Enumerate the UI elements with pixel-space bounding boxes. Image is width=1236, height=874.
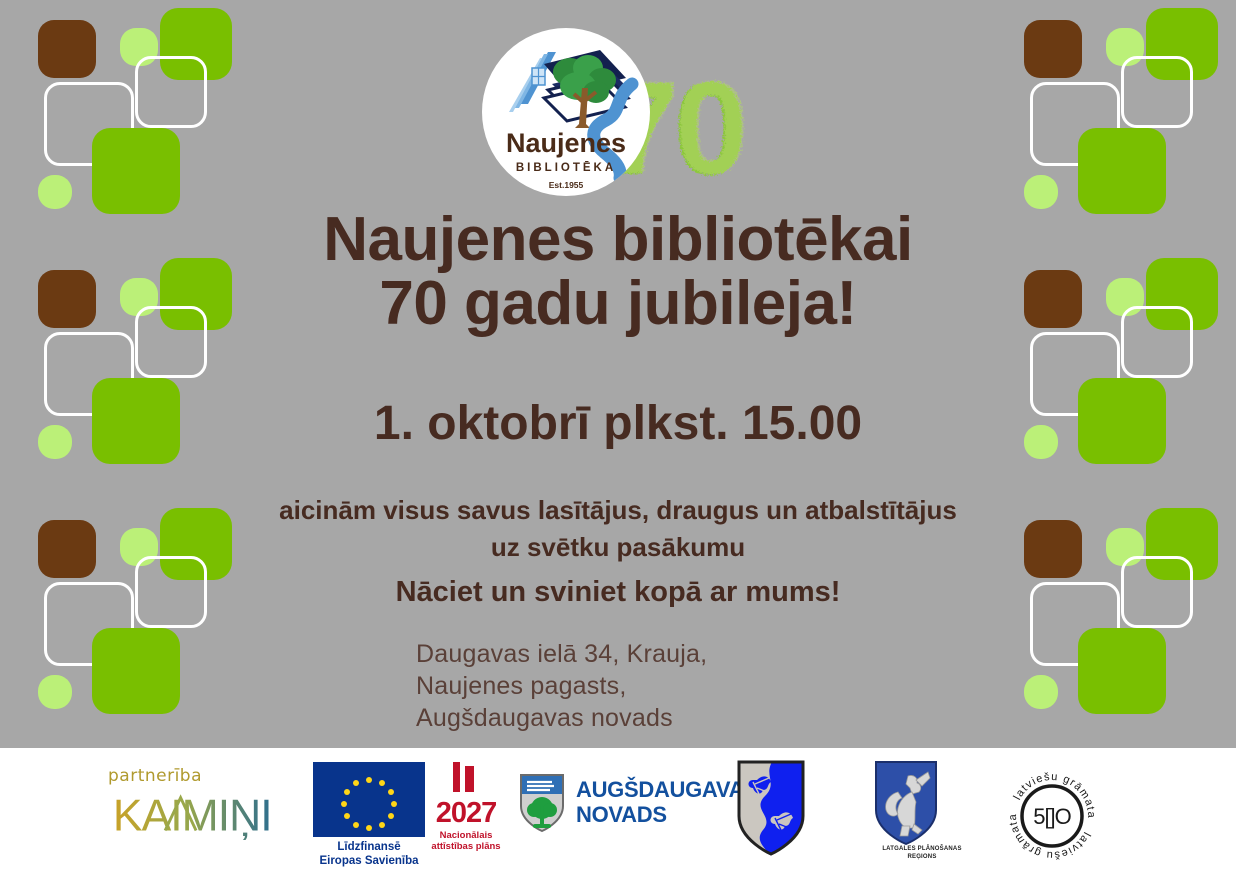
decoration-right (986, 0, 1236, 748)
gramatai-500-stamp-icon: latviešu grāmatai latviešu grāmatai 5[]O (1002, 764, 1102, 860)
deco-square-green-medium (1078, 128, 1166, 214)
latgale-line-1: LATGALES PLĀNOŠANAS (872, 846, 972, 854)
latgale-line-2: REĢIONS (872, 854, 972, 862)
poster-canvas: 70 70 (0, 0, 1236, 874)
logo-established-text: Est.1955 (549, 180, 584, 190)
stamp-center-text: 5[]O (1033, 804, 1071, 829)
call-to-action: Nāciet un sviniet kopā ar mums! (0, 576, 1236, 609)
eu-funding-caption: Līdzfinansē Eiropas Savienība (305, 840, 433, 869)
headline-line-2: 70 gadu jubileja! (0, 272, 1236, 336)
np-caption: Nacionālais attīstības plāns (431, 830, 501, 853)
deco-square-green-medium (1078, 628, 1166, 714)
invitation-line-2: uz svētku pasākumu (0, 529, 1236, 566)
invitation-text: aicinām visus savus lasītājus, draugus u… (0, 492, 1236, 566)
deco-square-light-green (38, 675, 72, 709)
deco-square-light-green (1024, 675, 1058, 709)
address-line-2: Naujenes pagasts, (416, 670, 707, 702)
address-line-3: Augšdaugavas novads (416, 702, 707, 734)
eu-flag-icon (313, 762, 425, 837)
np-caption-line-1: Nacionālais (431, 830, 501, 841)
sponsor-footer: partnerība KAIMIŅI (0, 748, 1236, 874)
logo-latviesu-gramatai-500: latviešu grāmatai latviešu grāmatai 5[]O (1002, 764, 1102, 860)
augsdaugavas-line-1: AUGŠDAUGAVAS (576, 778, 759, 803)
deco-square-outline (135, 56, 207, 128)
logo-naujenes-pagasts (735, 758, 840, 863)
logo-augsdaugavas-novads: AUGŠDAUGAVAS NOVADS (518, 772, 728, 838)
np-year: 2027 (431, 799, 501, 828)
deco-square-light-green (1024, 175, 1058, 209)
headline-line-1: Naujenes bibliotēkai (0, 208, 1236, 272)
deco-square-green-medium (92, 628, 180, 714)
event-datetime: 1. oktobrī plkst. 15.00 (0, 396, 1236, 451)
naujenes-coat-of-arms-icon (735, 758, 807, 858)
latgale-griffin-coat-of-arms-icon (872, 758, 940, 848)
address-line-1: Daugavas ielā 34, Krauja, (416, 638, 707, 670)
venue-address: Daugavas ielā 34, Krauja, Naujenes pagas… (416, 638, 707, 734)
deco-square-green-large (1146, 8, 1218, 80)
deco-square-outline (1030, 82, 1120, 166)
logo-latgales-planosanas-regions: LATGALES PLĀNOŠANAS REĢIONS (872, 758, 972, 866)
library-logo: 70 70 (482, 28, 772, 196)
np-caption-line-2: attīstības plāns (431, 841, 501, 852)
logo-sub-text: BIBLIOTĒKA (516, 162, 616, 174)
eu-caption-line-1: Līdzfinansē (305, 840, 433, 854)
deco-square-brown (38, 20, 96, 78)
kaimini-wordmark-icon: KAIMIŅI (108, 786, 288, 844)
np-bars-icon (431, 760, 501, 794)
page-title: Naujenes bibliotēkai 70 gadu jubileja! (0, 208, 1236, 337)
invitation-line-1: aicinām visus savus lasītājus, draugus u… (0, 492, 1236, 529)
deco-square-green-medium (92, 128, 180, 214)
deco-square-outline (44, 82, 134, 166)
augsdaugavas-coat-of-arms-icon (518, 772, 566, 834)
deco-square-outline (1121, 56, 1193, 128)
kaimini-main-text: KAIMIŅI (113, 791, 272, 840)
deco-square-light-green (120, 28, 158, 66)
logo-circle: Naujenes BIBLIOTĒKA Est.1955 (482, 28, 650, 196)
deco-square-brown (1024, 20, 1082, 78)
augsdaugavas-line-2: NOVADS (576, 803, 759, 828)
augsdaugavas-wordmark: AUGŠDAUGAVAS NOVADS (576, 778, 759, 827)
deco-square-light-green (38, 175, 72, 209)
deco-square-light-green (1106, 28, 1144, 66)
logo-eu-funding: Līdzfinansē Eiropas Savienība 2027 Nacio… (305, 760, 495, 860)
national-development-plan-logo: 2027 Nacionālais attīstības plāns (431, 760, 501, 853)
latgale-caption: LATGALES PLĀNOŠANAS REĢIONS (872, 846, 972, 862)
decoration-left (0, 0, 250, 748)
logo-partneriba-kaimini: partnerība KAIMIŅI (108, 766, 288, 850)
logo-emblem: Naujenes BIBLIOTĒKA Est.1955 (482, 28, 650, 196)
deco-square-green-large (160, 8, 232, 80)
kaimini-top-text: partnerība (108, 766, 288, 786)
eu-caption-line-2: Eiropas Savienība (305, 854, 433, 868)
logo-name-text: Naujenes (506, 128, 626, 158)
